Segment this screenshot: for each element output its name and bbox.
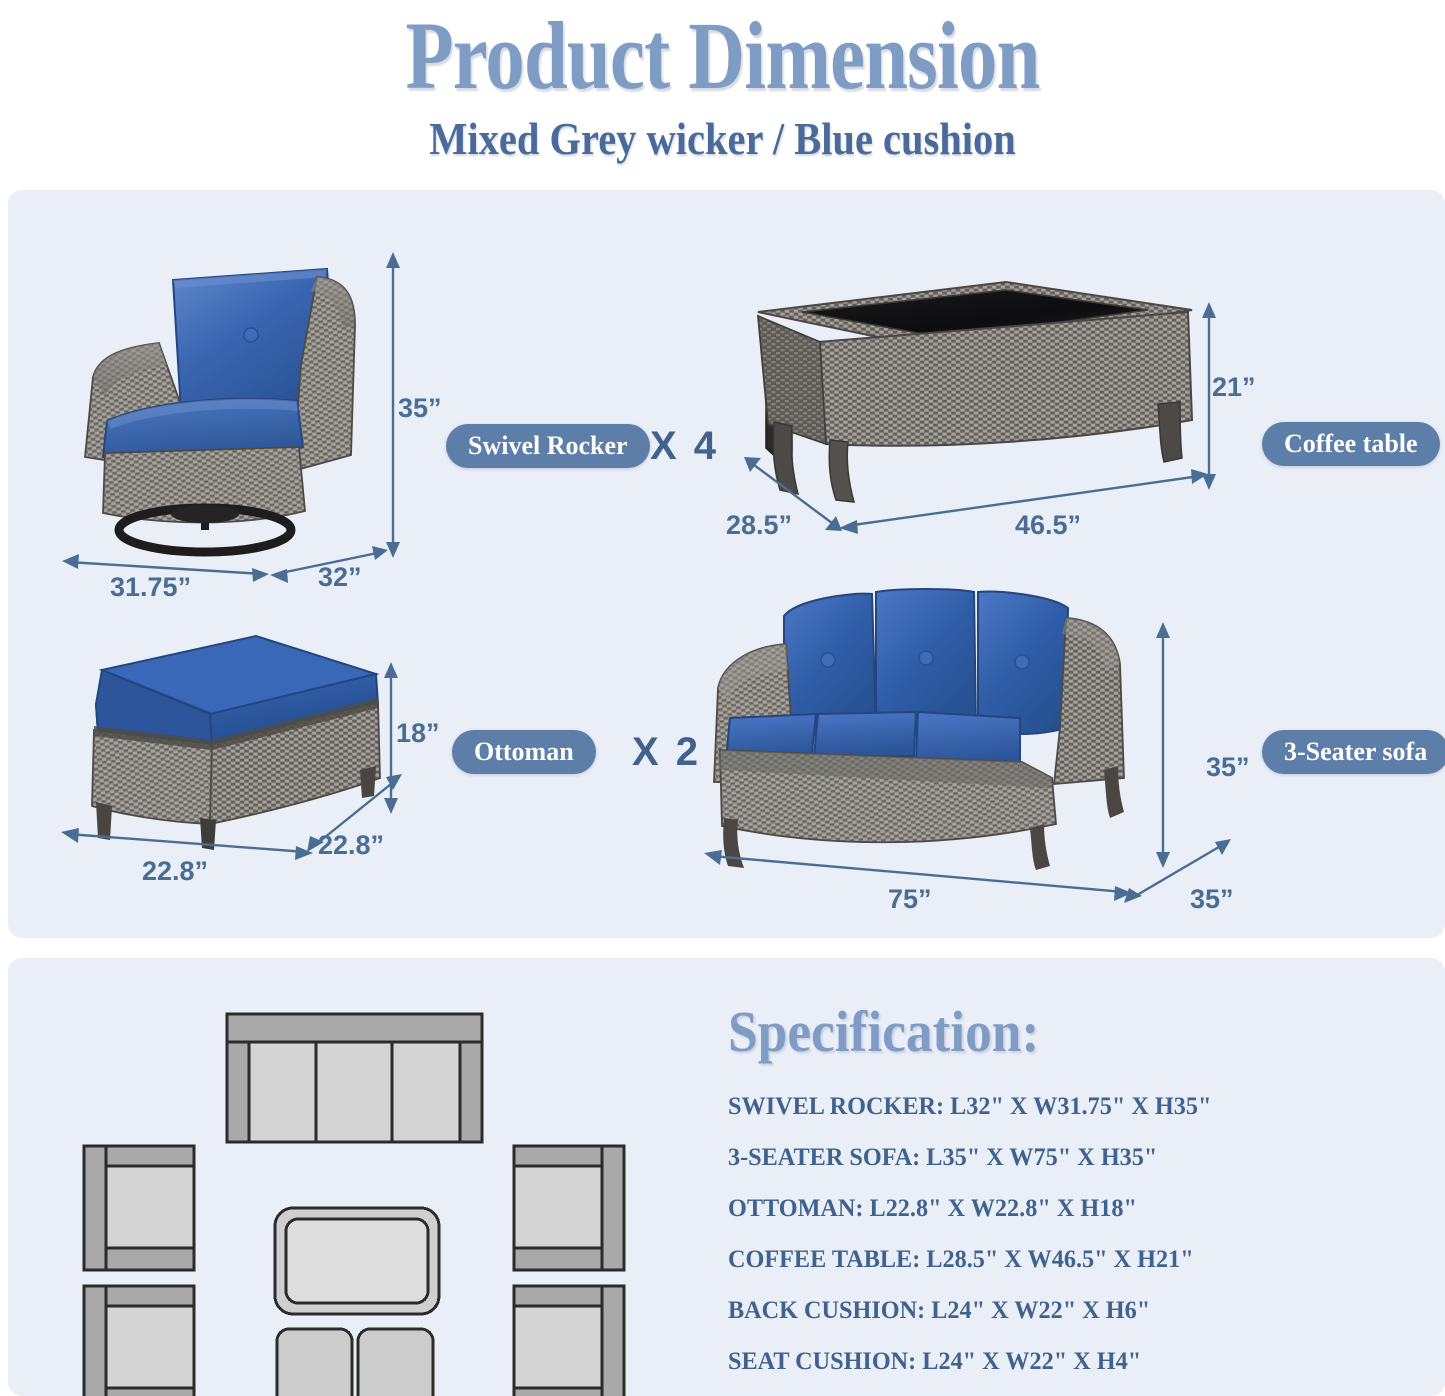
swivel-rocker-height-value: 35” — [398, 393, 442, 423]
spec-line-swivel-rocker: SWIVEL ROCKER: L32" X W31.75" X H35" — [728, 1080, 1393, 1131]
header: Product Dimension Mixed Grey wicker / Bl… — [0, 0, 1445, 180]
page-subtitle: Mixed Grey wicker / Blue cushion — [87, 114, 1359, 164]
sofa-width-value: 75” — [888, 884, 932, 914]
ottoman-count: X 2 — [632, 730, 701, 774]
product-dimension-infographic: Product Dimension Mixed Grey wicker / Bl… — [0, 0, 1445, 1396]
spec-line-ottoman: OTTOMAN: L22.8" X W22.8" X H18" — [728, 1182, 1393, 1233]
ottoman-width-value: 22.8” — [142, 856, 208, 886]
coffee-table-badge[interactable]: Coffee table — [1262, 422, 1440, 466]
swivel-rocker-width-value: 31.75” — [110, 572, 191, 602]
sofa-depth-value: 35” — [1190, 884, 1234, 914]
ottoman-badge[interactable]: Ottoman — [452, 730, 596, 774]
ottoman-depth-value: 22.8” — [318, 830, 384, 860]
coffee-table-width-value: 46.5” — [1015, 510, 1081, 540]
coffee-table-depth-value: 28.5” — [726, 510, 792, 540]
layout-plan-diagram — [70, 998, 680, 1378]
swivel-rocker-count: X 4 — [650, 424, 719, 468]
specification-heading: Specification: — [728, 1000, 1039, 1064]
sofa-badge[interactable]: 3-Seater sofa — [1262, 730, 1445, 774]
coffee-table-height-value: 21” — [1212, 372, 1256, 402]
swivel-rocker-depth-value: 32” — [318, 562, 362, 592]
swivel-rocker-badge[interactable]: Swivel Rocker — [446, 424, 650, 468]
sofa-height-value: 35” — [1206, 752, 1250, 782]
ottoman-height-value: 18” — [396, 718, 440, 748]
page-title: Product Dimension — [130, 0, 1315, 108]
spec-line-sofa: 3-SEATER SOFA: L35" X W75" X H35" — [728, 1131, 1393, 1182]
specification-list: SWIVEL ROCKER: L32" X W31.75" X H35" 3-S… — [728, 1080, 1428, 1386]
spec-line-coffee-table: COFFEE TABLE: L28.5" X W46.5" X H21" — [728, 1233, 1393, 1284]
spec-line-back-cushion: BACK CUSHION: L24" X W22" X H6" — [728, 1284, 1393, 1335]
spec-line-seat-cushion: SEAT CUSHION: L24" X W22" X H4" — [728, 1335, 1393, 1386]
ottoman-width-arrow — [58, 822, 318, 860]
swivel-rocker-illustration — [55, 225, 400, 570]
